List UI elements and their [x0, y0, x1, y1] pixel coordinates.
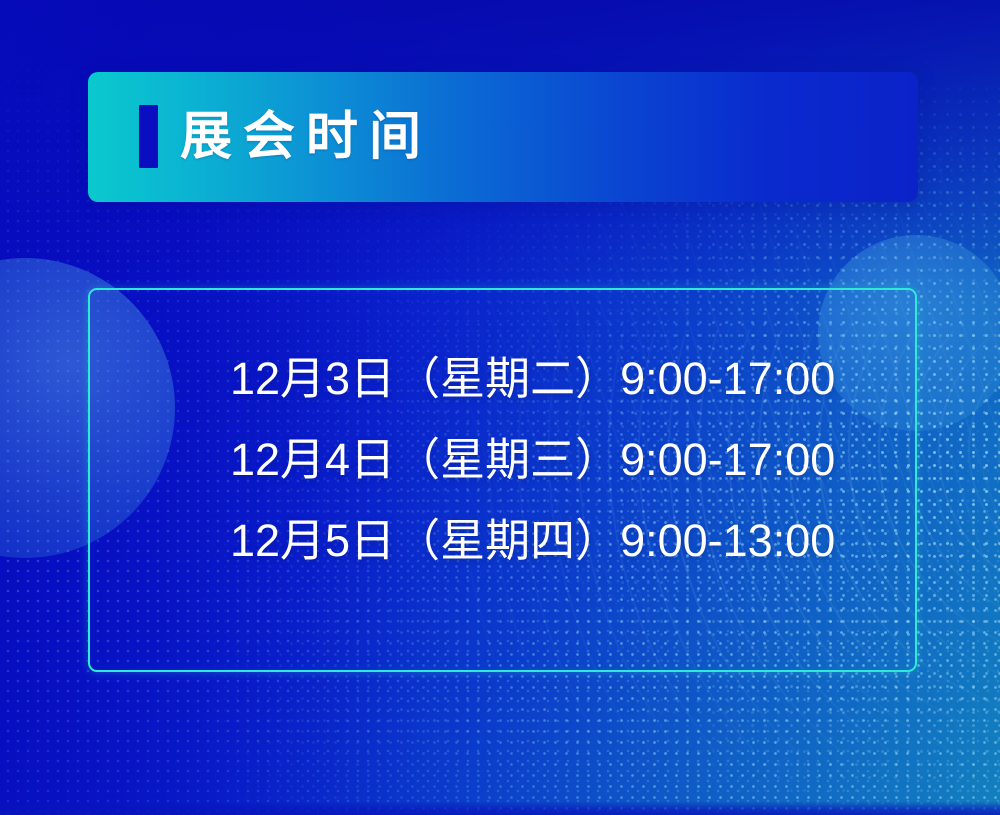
background-bottom-strip: [0, 801, 1000, 815]
schedule-row: 12月5日（星期四）9:00-13:00: [230, 518, 835, 563]
accent-bar-icon: [139, 105, 158, 168]
poster-canvas: 展会时间 12月3日（星期二）9:00-17:00 12月4日（星期三）9:00…: [0, 0, 1000, 815]
page-title: 展会时间: [180, 111, 432, 163]
header-banner: 展会时间: [88, 72, 918, 202]
schedule-frame: 12月3日（星期二）9:00-17:00 12月4日（星期三）9:00-17:0…: [88, 288, 917, 672]
schedule-row: 12月4日（星期三）9:00-17:00: [230, 437, 835, 482]
schedule-list: 12月3日（星期二）9:00-17:00 12月4日（星期三）9:00-17:0…: [230, 356, 835, 563]
schedule-row: 12月3日（星期二）9:00-17:00: [230, 356, 835, 401]
